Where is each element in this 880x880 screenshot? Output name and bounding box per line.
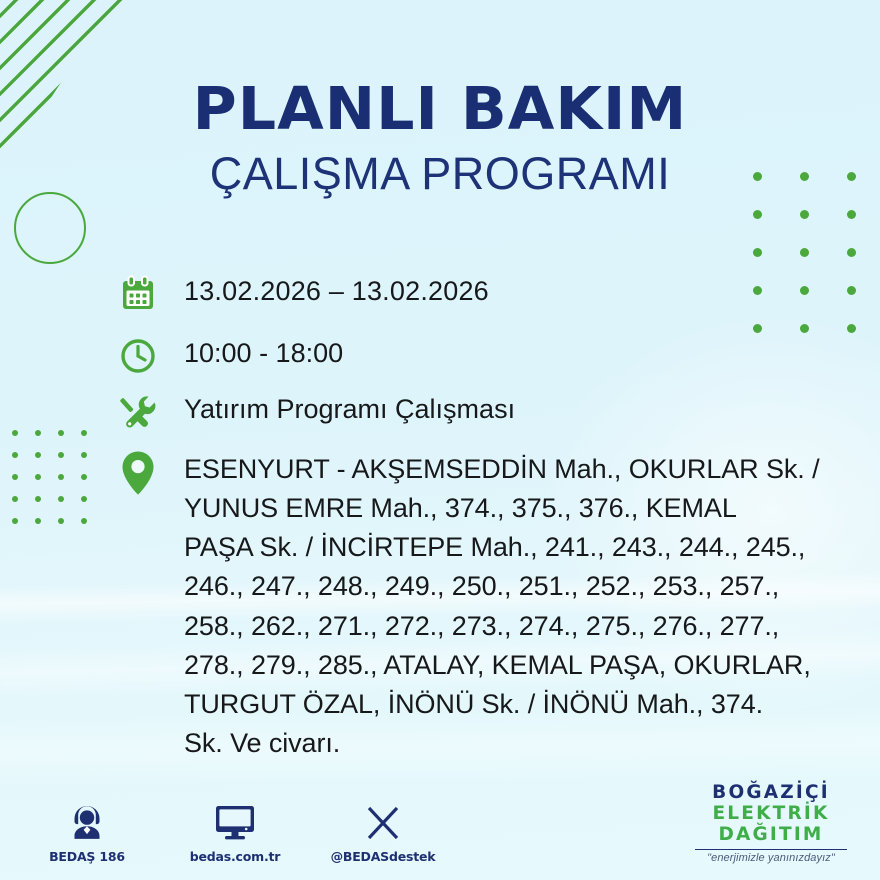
info-row-address: ESENYURT - AKŞEMSEDDİN Mah., OKURLAR Sk.… [118, 448, 838, 763]
contact-website-label: bedas.com.tr [190, 849, 281, 864]
decorative-dot [81, 452, 87, 458]
work-type-text: Yatırım Programı Çalışması [184, 390, 515, 428]
decorative-dot [81, 518, 87, 524]
headset-operator-icon [67, 800, 107, 842]
location-pin-icon [118, 448, 184, 496]
decorative-dot [12, 518, 18, 524]
poster-canvas: PLANLI BAKIM ÇALIŞMA PROGRAMI [0, 0, 880, 880]
poster-header: PLANLI BAKIM ÇALIŞMA PROGRAMI [0, 78, 880, 198]
x-twitter-icon [364, 800, 402, 842]
monitor-icon [213, 800, 257, 842]
address-line: 278., 279., 285., ATALAY, KEMAL PAŞA, OK… [184, 646, 819, 685]
decorative-dot [12, 496, 18, 502]
decorative-dot [58, 452, 64, 458]
decorative-dot [35, 430, 41, 436]
decorative-dot [847, 248, 856, 257]
bedas-logo: BOĞAZİÇİ ELEKTRİK DAĞITIM "enerjimizle y… [686, 783, 856, 864]
decorative-dot [35, 496, 41, 502]
decorative-dot [35, 474, 41, 480]
info-row-time: 10:00 - 18:00 [118, 334, 838, 376]
date-range-text: 13.02.2026 – 13.02.2026 [184, 272, 489, 310]
poster-footer: BEDAŞ 186 bedas.com.tr [0, 770, 880, 880]
address-line: YUNUS EMRE Mah., 374., 375., 376., KEMAL [184, 489, 819, 528]
decorative-dot [35, 518, 41, 524]
decorative-dot [800, 210, 809, 219]
address-line: Sk. Ve civarı. [184, 724, 819, 763]
decorative-dot [58, 518, 64, 524]
contact-phone-label: BEDAŞ 186 [49, 849, 125, 864]
circle-outline-decoration [14, 192, 86, 264]
clock-icon [118, 334, 184, 376]
page-subtitle: ÇALIŞMA PROGRAMI [0, 149, 880, 199]
contact-phone[interactable]: BEDAŞ 186 [34, 800, 140, 864]
address-line: 246., 247., 248., 249., 250., 251., 252.… [184, 567, 819, 606]
address-line: TURGUT ÖZAL, İNÖNÜ Sk. / İNÖNÜ Mah., 374… [184, 685, 819, 724]
time-range-text: 10:00 - 18:00 [184, 334, 343, 372]
logo-tagline: "enerjimizle yanınızdayız" [686, 852, 856, 864]
info-row-work-type: Yatırım Programı Çalışması [118, 390, 838, 432]
contact-website[interactable]: bedas.com.tr [182, 800, 288, 864]
decorative-dot [847, 286, 856, 295]
decorative-dot [81, 474, 87, 480]
address-line: PAŞA Sk. / İNCİRTEPE Mah., 241., 243., 2… [184, 528, 819, 567]
address-line: ESENYURT - AKŞEMSEDDİN Mah., OKURLAR Sk.… [184, 450, 819, 489]
outage-info-block: 13.02.2026 – 13.02.2026 10:00 - 18:00 [118, 272, 838, 783]
decorative-dot [58, 496, 64, 502]
decorative-dot [12, 430, 18, 436]
contact-x-account[interactable]: @BEDASdestek [330, 800, 436, 864]
decorative-dot [800, 248, 809, 257]
decorative-dot [753, 210, 762, 219]
contact-x-label: @BEDASdestek [331, 849, 436, 864]
decorative-dot [58, 474, 64, 480]
info-row-date: 13.02.2026 – 13.02.2026 [118, 272, 838, 314]
logo-line-bogazici: BOĞAZİÇİ [686, 783, 856, 804]
decorative-dot [12, 452, 18, 458]
logo-line-elektrik: ELEKTRİK [686, 804, 856, 825]
dot-grid-left-decoration [12, 430, 104, 540]
decorative-dot [35, 452, 41, 458]
logo-line-dagitim: DAĞITIM [686, 825, 856, 846]
page-title: PLANLI BAKIM [0, 78, 880, 140]
address-line: 258., 262., 271., 272., 273., 274., 275.… [184, 607, 819, 646]
decorative-dot [12, 474, 18, 480]
contact-channels: BEDAŞ 186 bedas.com.tr [34, 800, 436, 864]
calendar-icon [118, 272, 184, 314]
decorative-dot [847, 324, 856, 333]
address-text: ESENYURT - AKŞEMSEDDİN Mah., OKURLAR Sk.… [184, 448, 819, 763]
decorative-dot [81, 496, 87, 502]
decorative-dot [753, 248, 762, 257]
decorative-dot [58, 430, 64, 436]
decorative-dot [81, 430, 87, 436]
logo-divider [695, 849, 847, 851]
decorative-dot [847, 210, 856, 219]
tools-icon [118, 390, 184, 432]
